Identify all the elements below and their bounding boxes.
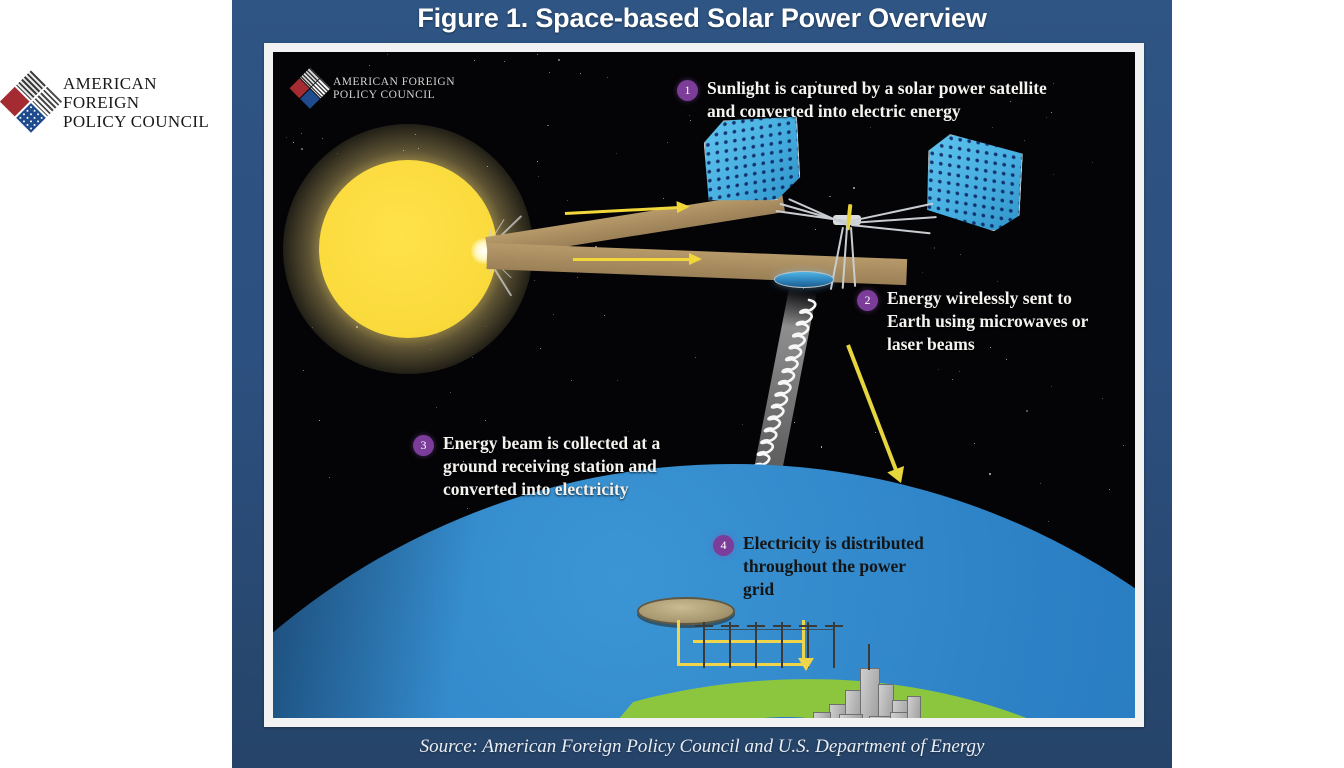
callout-4-text: Electricity is distributed throughout th…: [743, 532, 924, 601]
star: [1123, 445, 1124, 446]
star: [286, 137, 287, 138]
star: [301, 133, 302, 134]
transmission-wire: [781, 629, 807, 630]
callout-2-text: Energy wirelessly sent to Earth using mi…: [887, 287, 1088, 356]
star: [322, 138, 323, 139]
star: [803, 288, 804, 289]
star: [450, 392, 451, 393]
watermark-diamond-flag-icon: [289, 68, 331, 110]
star: [938, 369, 939, 370]
star: [534, 280, 535, 281]
star: [369, 65, 370, 66]
right-margin: [1172, 0, 1344, 768]
star: [293, 142, 295, 144]
power-line: [677, 663, 805, 666]
transmission-pylon-arm: [773, 625, 791, 627]
star: [742, 424, 743, 425]
star: [1053, 174, 1054, 175]
watermark-line2: POLICY COUNCIL: [333, 89, 455, 102]
callout-4-badge: 4: [713, 535, 734, 556]
star: [537, 161, 538, 162]
star: [870, 127, 871, 128]
star: [960, 254, 961, 255]
callout-3-text: Energy beam is collected at a ground rec…: [443, 432, 660, 501]
afpc-logo: AMERICAN FOREIGN POLICY COUNCIL: [8, 74, 232, 131]
star: [1040, 483, 1041, 484]
star: [875, 432, 877, 434]
star: [974, 443, 975, 444]
star: [567, 200, 568, 201]
figure-source-caption: Source: American Foreign Policy Council …: [232, 736, 1172, 758]
star: [616, 153, 617, 154]
slide-panel: Figure 1. Space-based Solar Power Overvi…: [232, 0, 1172, 768]
star: [387, 54, 388, 55]
star: [301, 148, 303, 150]
figure-title: Figure 1. Space-based Solar Power Overvi…: [232, 0, 1172, 36]
callout-3-badge: 3: [413, 435, 434, 456]
transmission-pylon-arm: [721, 625, 739, 627]
star: [504, 61, 505, 62]
callout-1-badge: 1: [677, 80, 698, 101]
star: [553, 314, 554, 315]
star: [607, 77, 608, 78]
star: [934, 247, 936, 249]
sunlight-direction-arrow: [573, 258, 699, 261]
star: [474, 60, 475, 61]
callout-4: 4 Electricity is distributed throughout …: [713, 532, 983, 601]
afpc-wordmark-line1: AMERICAN FOREIGN: [63, 74, 232, 112]
star: [1024, 140, 1025, 141]
figure-illustration: AMERICAN FOREIGN POLICY COUNCIL 1 Sunlig…: [273, 52, 1135, 718]
star: [959, 371, 960, 372]
power-line: [677, 620, 680, 666]
star: [663, 198, 664, 199]
callout-2-badge: 2: [857, 290, 878, 311]
star: [922, 272, 923, 273]
figure-watermark-logo: AMERICAN FOREIGN POLICY COUNCIL: [295, 74, 455, 104]
power-flow-arrow: [798, 658, 814, 671]
star: [303, 370, 304, 371]
star: [853, 187, 855, 189]
star: [604, 315, 605, 316]
callout-1-text: Sunlight is captured by a solar power sa…: [707, 77, 1047, 123]
star: [540, 348, 541, 349]
power-line: [693, 640, 805, 643]
transmission-pylon-arm: [747, 625, 765, 627]
star: [547, 125, 549, 127]
building: [860, 668, 880, 718]
star: [319, 420, 320, 421]
star: [571, 380, 572, 381]
star: [485, 420, 486, 421]
star: [815, 229, 816, 230]
star: [436, 407, 437, 408]
star: [1026, 410, 1028, 412]
building: [813, 712, 831, 718]
star: [472, 357, 473, 358]
star: [952, 379, 953, 380]
watermark-wordmark: AMERICAN FOREIGN POLICY COUNCIL: [333, 76, 455, 102]
star: [695, 357, 696, 358]
afpc-diamond-flag-icon: [0, 70, 64, 135]
star: [558, 59, 560, 61]
transmission-pylon-arm: [695, 625, 713, 627]
star: [1102, 398, 1103, 399]
watermark-line1: AMERICAN FOREIGN: [333, 76, 455, 89]
star: [577, 277, 578, 278]
transmission-wire: [729, 629, 755, 630]
star: [989, 473, 991, 475]
star: [329, 477, 330, 478]
star: [667, 142, 668, 143]
star: [537, 54, 538, 55]
star: [580, 73, 581, 74]
star: [1092, 162, 1093, 163]
transmission-pylon-arm: [825, 625, 843, 627]
callout-3: 3 Energy beam is collected at a ground r…: [413, 432, 713, 501]
star: [794, 422, 795, 423]
transmission-pylon-arm: [799, 625, 817, 627]
building-antenna: [868, 644, 870, 670]
transmission-wire: [703, 629, 729, 630]
star: [992, 127, 993, 128]
star: [1051, 386, 1052, 387]
callout-1: 1 Sunlight is captured by a solar power …: [677, 77, 1077, 123]
figure-frame: AMERICAN FOREIGN POLICY COUNCIL 1 Sunlig…: [264, 43, 1144, 727]
left-margin: AMERICAN FOREIGN POLICY COUNCIL: [0, 0, 232, 768]
transmission-wire: [807, 629, 833, 630]
microwave-transmitter-dish: [774, 271, 834, 288]
star: [1006, 359, 1007, 360]
building: [907, 696, 921, 718]
callout-2: 2 Energy wirelessly sent to Earth using …: [857, 287, 1135, 356]
afpc-wordmark: AMERICAN FOREIGN POLICY COUNCIL: [63, 74, 232, 131]
star: [549, 72, 550, 73]
afpc-wordmark-line2: POLICY COUNCIL: [63, 112, 232, 131]
building: [839, 714, 863, 718]
star: [1109, 489, 1110, 490]
transmission-wire: [755, 629, 781, 630]
star: [997, 281, 998, 282]
star: [617, 380, 618, 381]
transmission-pylon: [833, 622, 835, 668]
star: [829, 196, 831, 198]
star: [821, 446, 823, 448]
star: [538, 176, 539, 177]
